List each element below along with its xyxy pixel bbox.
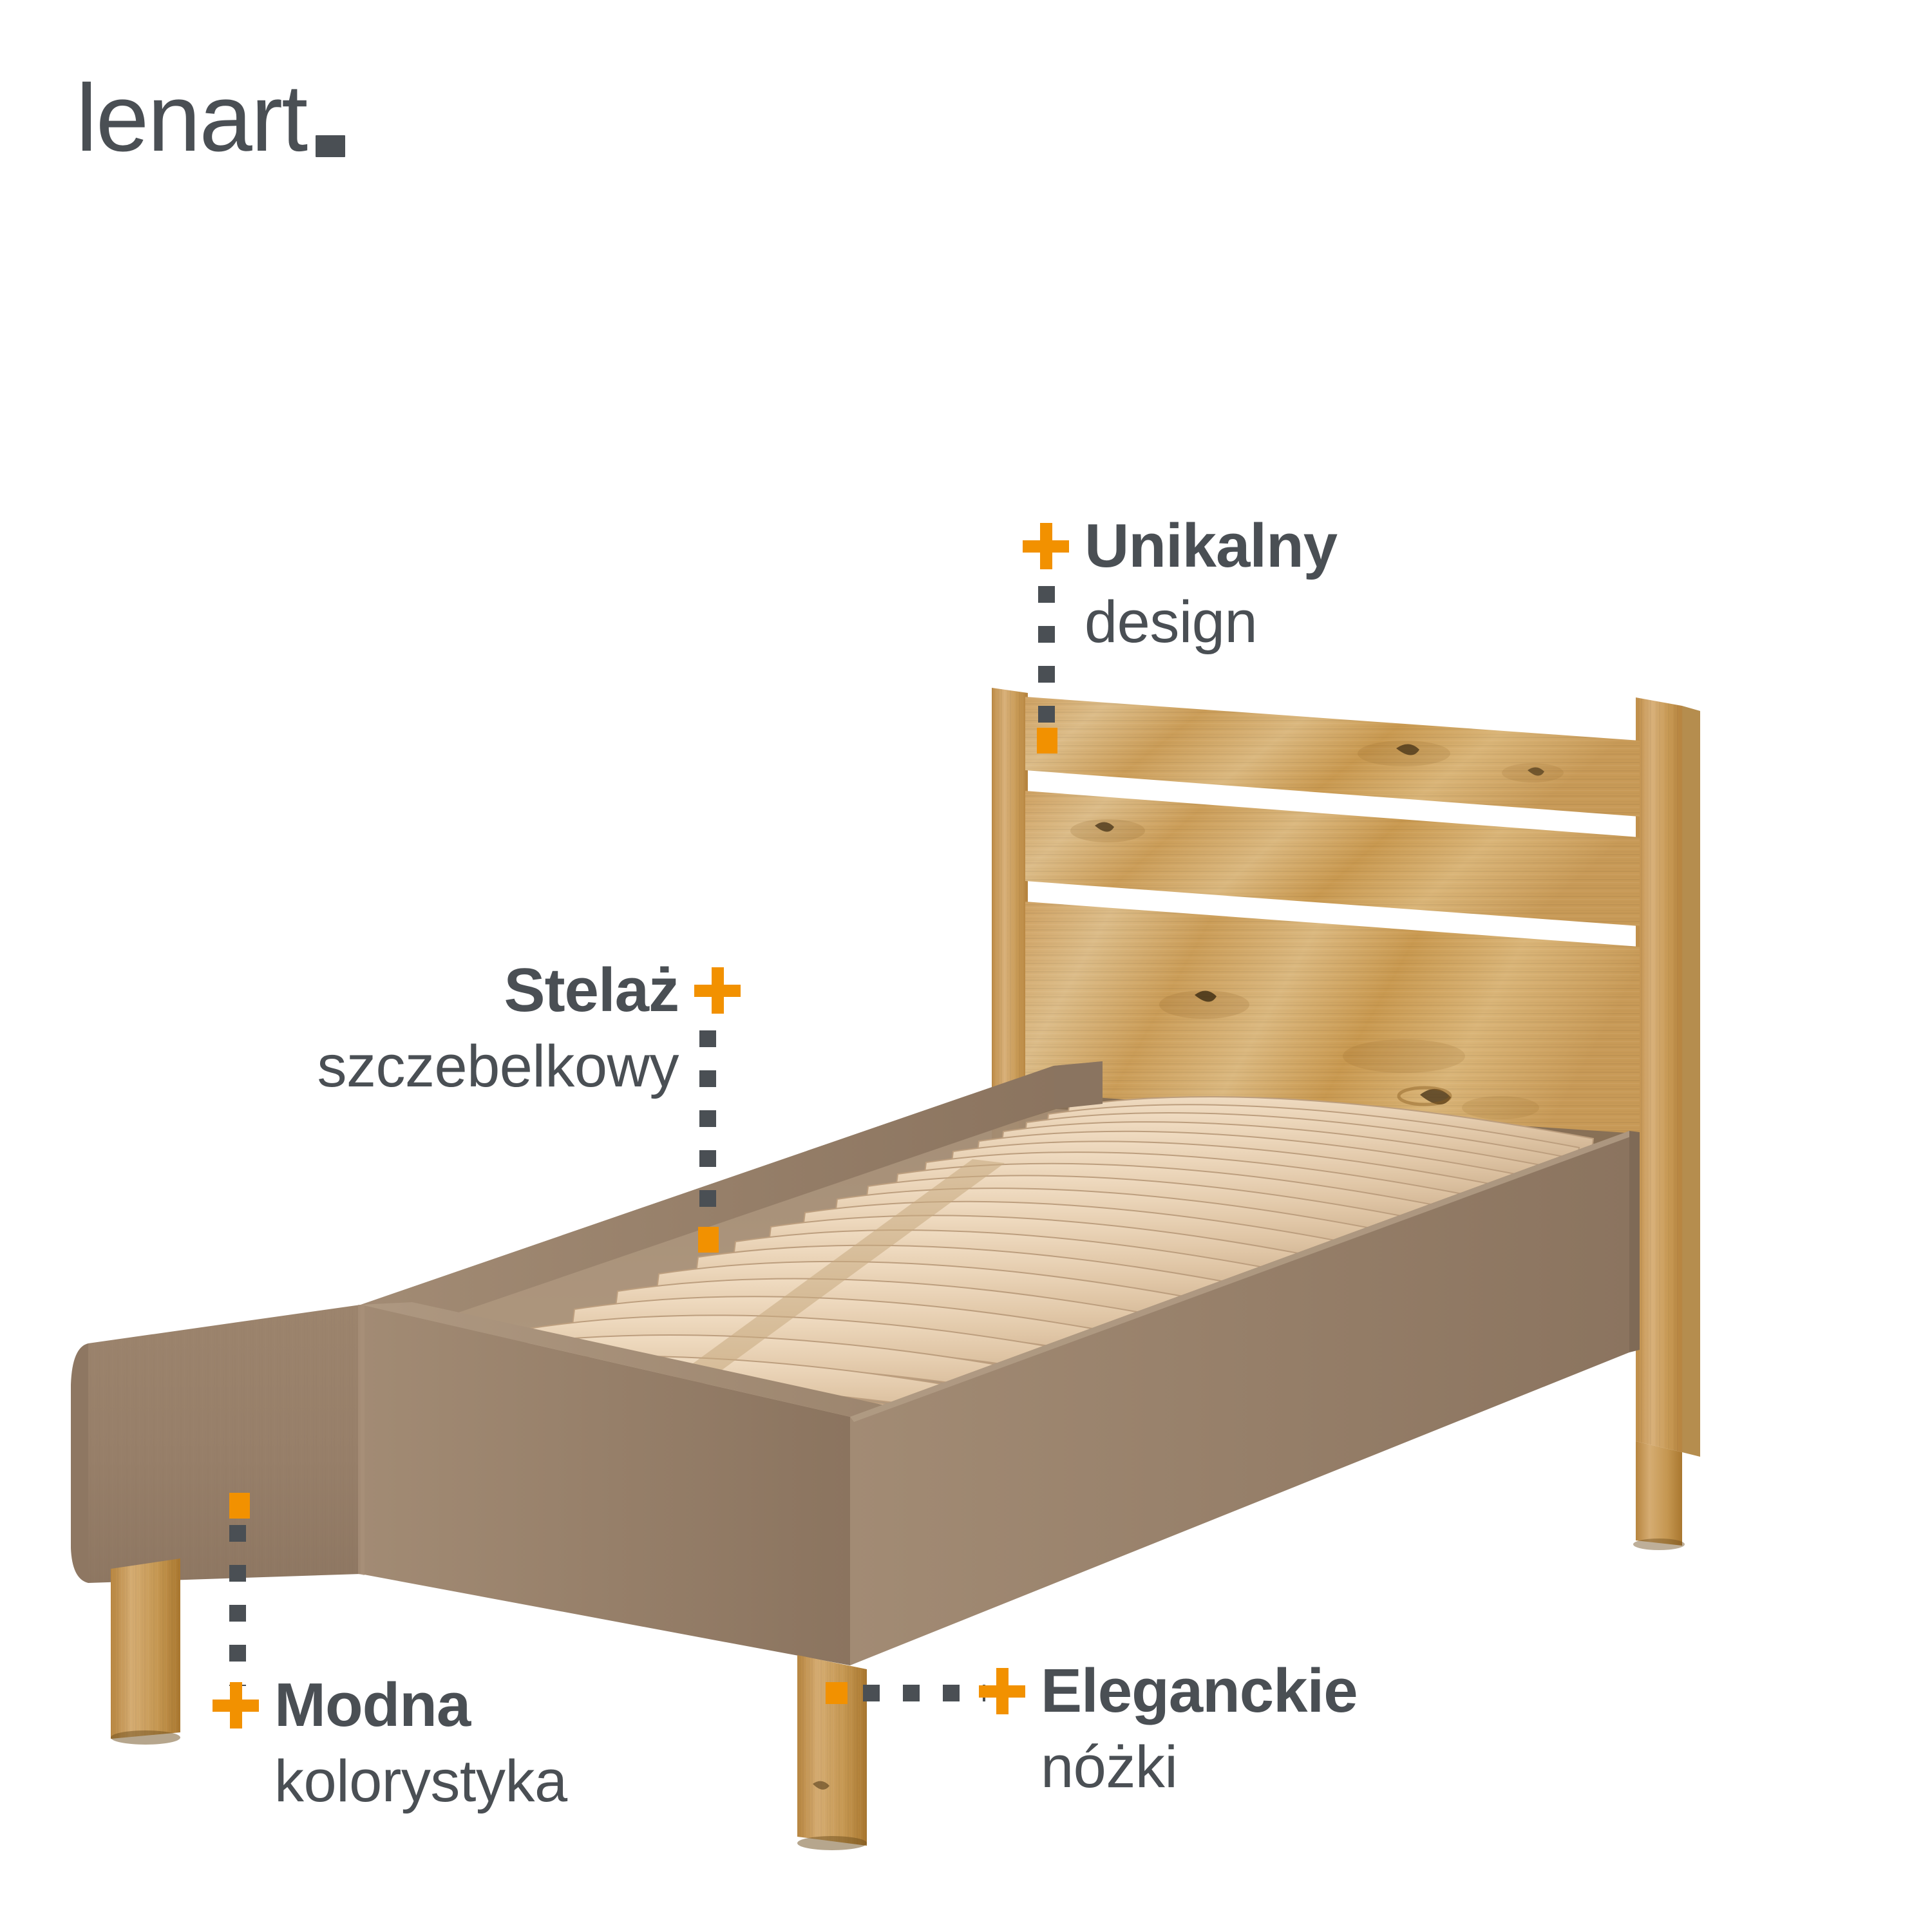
headboard-panel-middle bbox=[1025, 791, 1640, 926]
annotation-title: Stelaż bbox=[504, 960, 679, 1021]
annotation-subtitle: nóżki bbox=[1041, 1732, 1358, 1803]
headboard-post-right bbox=[1636, 697, 1700, 1457]
leg-front-left bbox=[111, 1558, 180, 1745]
annotation-stelaz-szczebelkowy: Stelaż szczebelkowy bbox=[206, 960, 741, 1102]
annotation-title: Eleganckie bbox=[1041, 1660, 1358, 1722]
marker-eleganckie bbox=[826, 1682, 848, 1704]
marker-stelaz bbox=[698, 1227, 719, 1253]
marker-modna bbox=[229, 1493, 250, 1519]
annotation-title: Unikalny bbox=[1084, 515, 1337, 577]
annotation-unikalny-design: Unikalny design bbox=[1023, 515, 1337, 658]
plus-icon bbox=[213, 1682, 259, 1728]
plus-icon bbox=[694, 967, 741, 1014]
annotation-title: Modna bbox=[274, 1674, 470, 1736]
annotation-eleganckie-nozki: Eleganckie nóżki bbox=[979, 1660, 1358, 1803]
connector-dotted-unikalny bbox=[1038, 586, 1055, 734]
connector-dotted-modna bbox=[229, 1525, 246, 1686]
infographic-canvas: lenart bbox=[0, 0, 1932, 1932]
plus-icon bbox=[979, 1668, 1025, 1714]
connector-dotted-eleganckie bbox=[863, 1685, 985, 1701]
annotation-subtitle: kolorystyka bbox=[274, 1747, 567, 1817]
annotation-modna-kolorystyka: Modna kolorystyka bbox=[213, 1674, 567, 1817]
plus-icon bbox=[1023, 523, 1069, 569]
annotation-subtitle: design bbox=[1084, 587, 1337, 658]
annotation-subtitle: szczebelkowy bbox=[206, 1032, 679, 1102]
marker-unikalny bbox=[1037, 728, 1057, 753]
leg-rear-right bbox=[1633, 1441, 1685, 1550]
connector-dotted-stelaz bbox=[699, 1030, 716, 1236]
